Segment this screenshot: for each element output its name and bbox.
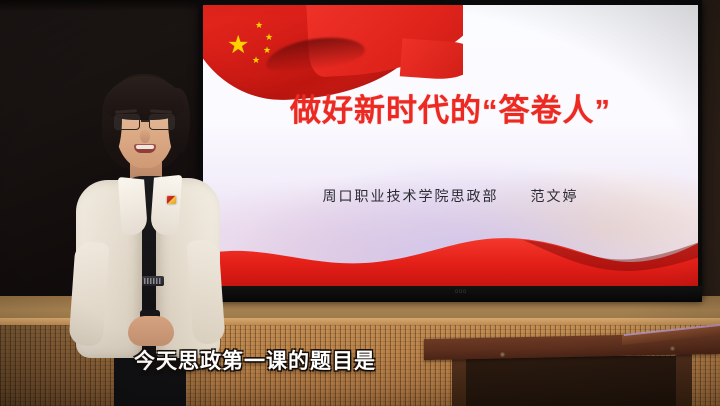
glasses-icon: [112, 114, 178, 131]
flag-star-small: ★: [265, 33, 273, 42]
flag-star-small: ★: [255, 21, 263, 30]
glasses-lens-right: [149, 114, 175, 130]
presentation-slide: ★ ★ ★ ★ ★ 做好新时代的“答卷人” 周口职业技术学院思政部 范文婷: [203, 5, 698, 287]
wall-right-edge: [700, 0, 720, 330]
flag-star-small: ★: [263, 46, 271, 55]
slide-title: 做好新时代的“答卷人”: [203, 85, 698, 130]
arm-left: [68, 241, 109, 347]
red-silk-ribbon: [203, 223, 698, 287]
glasses-lens-left: [114, 114, 140, 130]
hands: [128, 316, 174, 346]
glasses-bridge: [141, 120, 150, 122]
nose: [140, 130, 150, 143]
subtitle-caption: 今天思政第一课的题目是: [0, 345, 720, 375]
flag-star-large: ★: [227, 33, 249, 58]
slide-subtitle: 周口职业技术学院思政部 范文婷: [203, 186, 698, 206]
flag-star-small: ★: [252, 56, 260, 65]
teeth: [136, 145, 154, 149]
clip-microphone: [142, 276, 164, 286]
blazer-lapel-right: [150, 175, 183, 238]
party-emblem-pin: [167, 196, 176, 204]
display-brand-mark: ooo: [455, 289, 467, 295]
video-frame: ★ ★ ★ ★ ★ 做好新时代的“答卷人” 周口职业技术学院思政部 范文婷: [0, 0, 720, 406]
flag-tip: [400, 38, 463, 81]
blazer-lapel-left: [118, 177, 148, 237]
display-bottom-bezel: [199, 286, 702, 302]
